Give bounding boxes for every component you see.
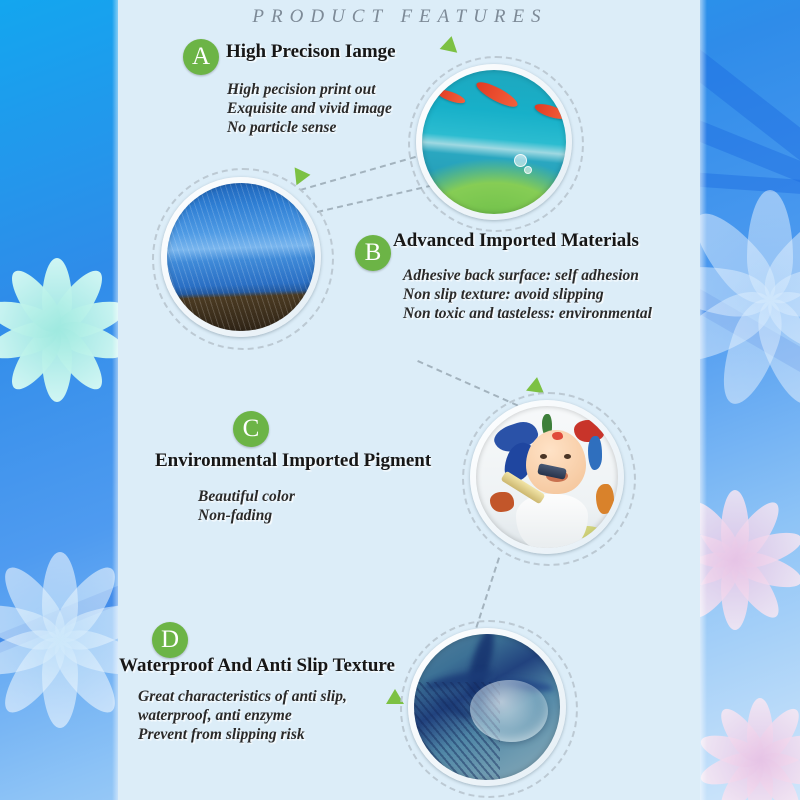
feature-lines-a: High pecision print out Exquisite and vi… bbox=[227, 80, 392, 137]
feature-line: Great characteristics of anti slip, bbox=[138, 687, 347, 706]
feature-lines-c: Beautiful color Non-fading bbox=[198, 487, 295, 525]
feature-line: Non slip texture: avoid slipping bbox=[403, 285, 652, 304]
feature-line: Prevent from slipping risk bbox=[138, 725, 347, 744]
feature-heading-a: High Precison Iamge bbox=[226, 41, 396, 63]
feature-badge-d: D bbox=[152, 622, 188, 658]
product-features-infographic: PRODUCT FEATURES bbox=[0, 0, 800, 800]
feature-badge-a: A bbox=[183, 39, 219, 75]
feature-lines-d: Great characteristics of anti slip, wate… bbox=[138, 687, 347, 744]
feature-badge-b: B bbox=[355, 235, 391, 271]
feature-heading-b: Advanced Imported Materials bbox=[393, 230, 639, 252]
feature-badge-c: C bbox=[233, 411, 269, 447]
feature-line: waterproof, anti enzyme bbox=[138, 706, 347, 725]
feature-lines-b: Adhesive back surface: self adhesion Non… bbox=[403, 266, 652, 323]
feature-line: High pecision print out bbox=[227, 80, 392, 99]
feature-line: Non toxic and tasteless: environmental bbox=[403, 304, 652, 323]
feature-line: Non-fading bbox=[198, 506, 295, 525]
feature-heading-d: Waterproof And Anti Slip Texture bbox=[119, 655, 395, 677]
page-title: PRODUCT FEATURES bbox=[0, 6, 800, 28]
panel-edge-right bbox=[700, 0, 707, 800]
feature-line: Adhesive back surface: self adhesion bbox=[403, 266, 652, 285]
arrow-marker-c bbox=[526, 376, 546, 393]
feature-line: Beautiful color bbox=[198, 487, 295, 506]
feature-line: No particle sense bbox=[227, 118, 392, 137]
feature-line: Exquisite and vivid image bbox=[227, 99, 392, 118]
feature-heading-c: Environmental Imported Pigment bbox=[155, 450, 431, 472]
